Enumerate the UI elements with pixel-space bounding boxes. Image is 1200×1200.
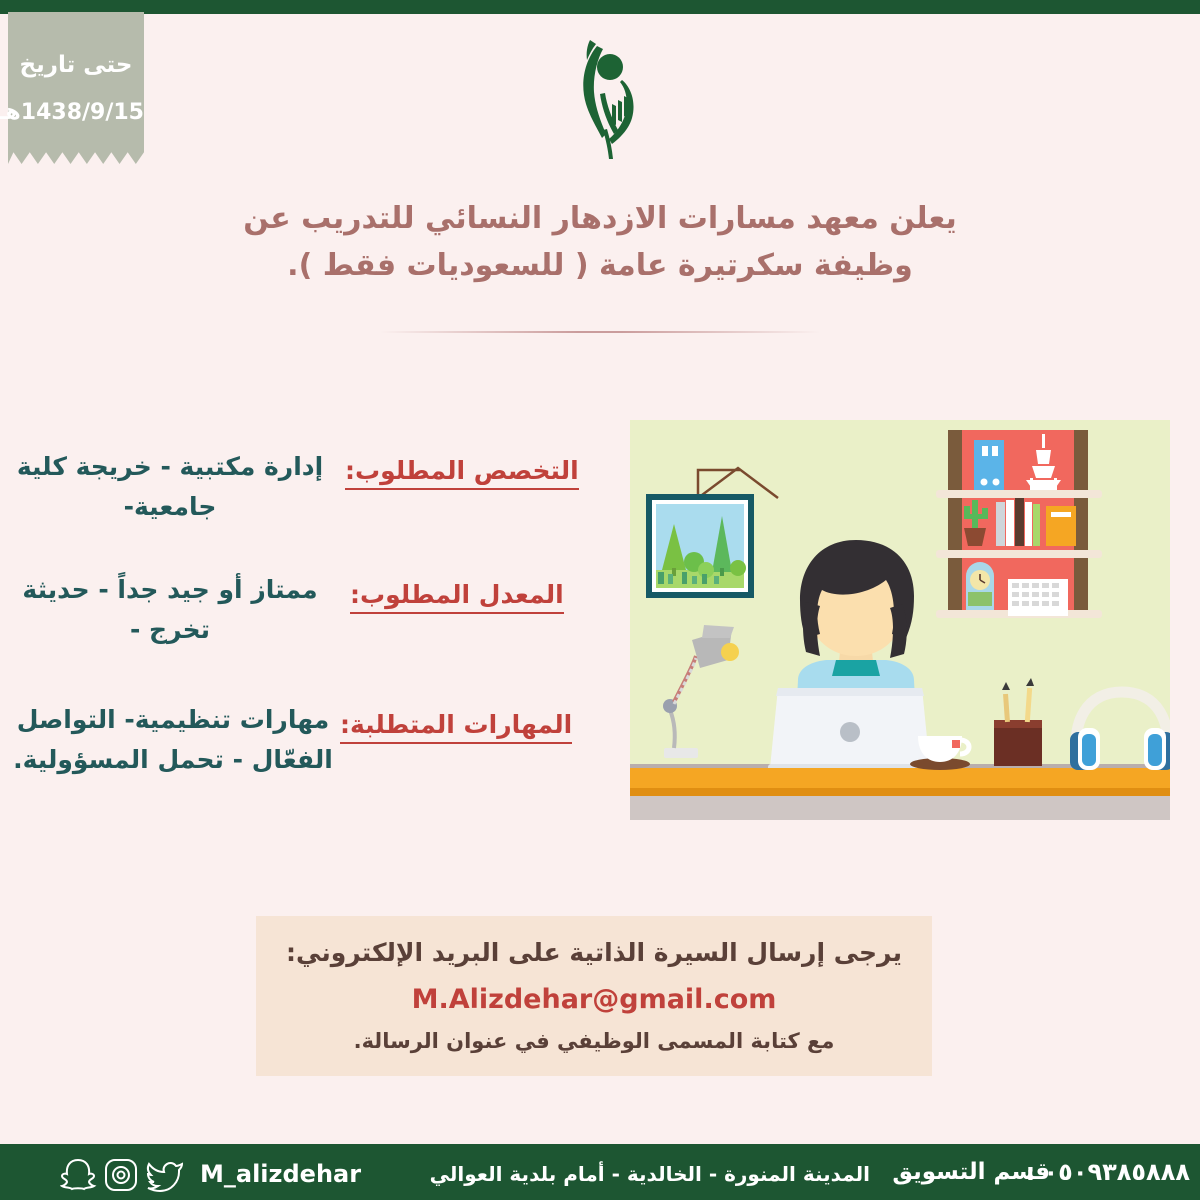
institute-logo <box>540 22 680 162</box>
office-address: المدينة المنورة - الخالدية - أمام بلدية … <box>430 1162 870 1186</box>
page-title: يعلن معهد مسارات الازدهار النسائي للتدري… <box>220 196 980 289</box>
top-green-bar <box>0 0 1200 14</box>
deadline-label: حتى تاريخ <box>8 52 144 78</box>
woman-working-at-desk-illustration <box>630 420 1170 820</box>
mailbox-instruction-line: يرجى إرسال السيرة الذاتية على البريد الإ… <box>256 938 932 967</box>
requirement-value-gpa: ممتاز أو جيد جداً - حديثة تخرج - <box>10 570 330 650</box>
deadline-date: 1438/9/15هـ <box>8 100 144 125</box>
title-divider <box>380 331 820 333</box>
contact-phone: ٠٥٠٩٣٨٥٨٨٨ : <box>1026 1158 1190 1186</box>
requirement-value-major: إدارة مكتبية - خريجة كلية جامعية- <box>10 447 330 527</box>
job-ad-poster: حتى تاريخ 1438/9/15هـ يعلن معهد مسارات ا… <box>0 0 1200 1200</box>
snapchat-icon <box>62 1160 94 1189</box>
social-icons-group <box>60 1154 190 1192</box>
application-email[interactable]: M.Alizdehar@gmail.com <box>256 984 932 1015</box>
application-instructions-box: يرجى إرسال السيرة الذاتية على البريد الإ… <box>256 916 932 1076</box>
badge-zigzag-edge <box>8 146 144 164</box>
twitter-icon <box>148 1163 182 1191</box>
requirement-label-gpa: المعدل المطلوب: <box>350 580 564 614</box>
requirement-label-skills: المهارات المتطلبة: <box>340 710 572 744</box>
laptop <box>768 688 934 772</box>
bookshelf <box>936 430 1102 618</box>
social-handle: M_alizdehar <box>200 1160 361 1188</box>
mailbox-subject-note: مع كتابة المسمى الوظيفي في عنوان الرسالة… <box>256 1029 932 1053</box>
requirement-label-major: التخصص المطلوب: <box>345 456 579 490</box>
instagram-icon <box>106 1160 136 1190</box>
deadline-badge: حتى تاريخ 1438/9/15هـ <box>8 12 144 152</box>
footer-bar: ٠٥٠٩٣٨٥٨٨٨ : قسم التسويق المدينة المنورة… <box>0 1144 1200 1200</box>
marketing-department-label: قسم التسويق <box>892 1159 1050 1185</box>
requirement-value-skills: مهارات تنظيمية- التواصل الفعّال - تحمل ا… <box>8 700 338 780</box>
